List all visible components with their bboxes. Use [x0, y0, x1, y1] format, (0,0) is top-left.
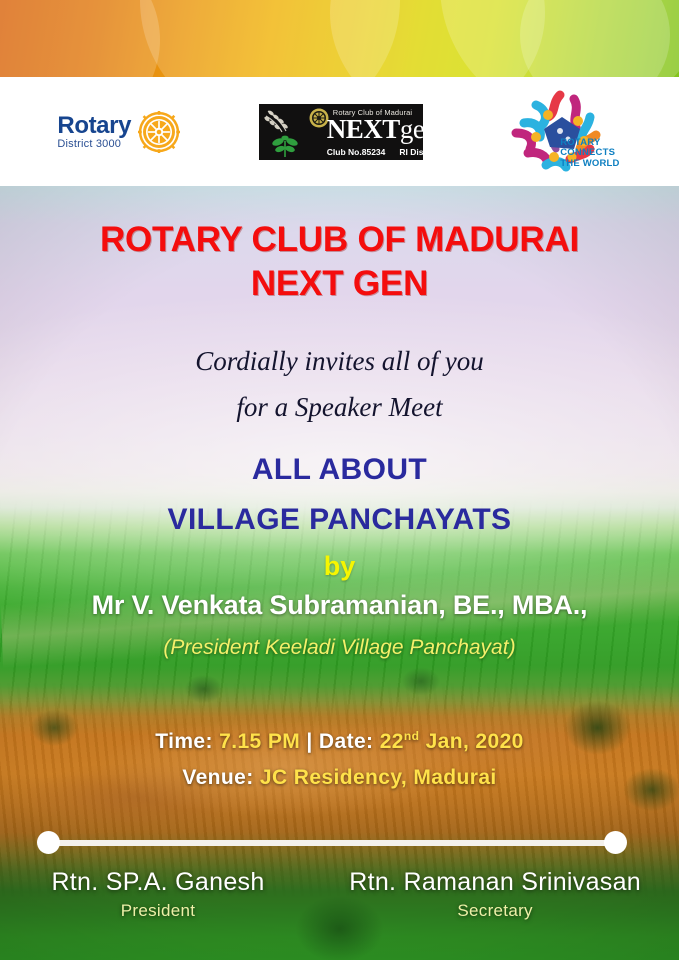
- divider-dot-right: [604, 831, 627, 854]
- signatory-name: Rtn. SP.A. Ganesh: [38, 868, 278, 897]
- poster-content: ROTARY CLUB OF MADURAI NEXT GEN Cordiall…: [0, 186, 679, 960]
- title-line-2: NEXT GEN: [0, 262, 679, 306]
- date-label: Date:: [319, 730, 374, 753]
- rotary-district-logo: Rotary District 3000: [57, 111, 180, 153]
- nextgen-district-number: RI Dist 3000: [399, 147, 447, 157]
- rotary-district-subtitle: District 3000: [57, 139, 131, 150]
- invitation-line-1: Cordially invites all of you: [0, 338, 679, 384]
- event-details: Time: 7.15 PM | Date: 22nd Jan, 2020 Ven…: [0, 718, 679, 796]
- village-landscape-background: ROTARY CLUB OF MADURAI NEXT GEN Cordiall…: [0, 186, 679, 960]
- nextgen-club-logo: Rotary Club of Madurai NEXTgen Club No.8…: [259, 104, 423, 160]
- rotary-connects-the-world-logo: ROTARY CONNECTS THE WORLD: [502, 89, 622, 175]
- rotary-district-wordmark: Rotary District 3000: [57, 114, 131, 150]
- speaker-role: (President Keeladi Village Panchayat): [0, 636, 679, 660]
- rotary-wheel-seal-icon: [309, 108, 329, 128]
- time-label: Time:: [155, 730, 213, 753]
- divider-dot-left: [37, 831, 60, 854]
- invitation-text: Cordially invites all of you for a Speak…: [0, 338, 679, 430]
- venue-value: JC Residency, Madurai: [260, 766, 497, 789]
- event-invitation-poster: Rotary District 3000: [0, 0, 679, 960]
- topic-line-1: ALL ABOUT: [0, 445, 679, 495]
- speaker-name: Mr V. Venkata Subramanian, BE., MBA.,: [0, 590, 679, 621]
- title-line-1: ROTARY CLUB OF MADURAI: [0, 218, 679, 262]
- venue-label: Venue:: [182, 766, 253, 789]
- wheat-sprout-icon: [262, 107, 308, 157]
- talk-topic: ALL ABOUT VILLAGE PANCHAYATS: [0, 445, 679, 545]
- rotary-wheel-icon: [138, 111, 180, 153]
- date-ordinal-suffix: nd: [404, 729, 419, 743]
- rotary-connects-line3: THE WORLD: [560, 159, 619, 170]
- nextgen-word-gen: gen: [400, 114, 437, 144]
- divider-rule: [48, 831, 616, 855]
- decorative-circle: [520, 0, 670, 77]
- signatory-role: Secretary: [349, 901, 641, 921]
- header-gradient-band: [0, 0, 679, 77]
- signatories: Rtn. SP.A. Ganesh President Rtn. Ramanan…: [0, 868, 679, 921]
- rotary-wordmark-text: Rotary: [57, 114, 131, 138]
- nextgen-club-number: Club No.85234: [327, 147, 386, 157]
- poster-title: ROTARY CLUB OF MADURAI NEXT GEN: [0, 218, 679, 306]
- date-month-year: Jan, 2020: [426, 730, 524, 753]
- topic-line-2: VILLAGE PANCHAYATS: [0, 495, 679, 545]
- nextgen-word-next: NEXT: [327, 114, 400, 144]
- by-label: by: [0, 551, 679, 582]
- signatory-president: Rtn. SP.A. Ganesh President: [38, 868, 278, 921]
- detail-separator: |: [306, 730, 312, 753]
- divider-bar: [48, 840, 616, 846]
- nextgen-wordmark: NEXTgen: [327, 116, 438, 143]
- signatory-name: Rtn. Ramanan Srinivasan: [349, 868, 641, 897]
- date-day: 22: [380, 730, 404, 753]
- decorative-circle: [0, 0, 160, 77]
- signatory-secretary: Rtn. Ramanan Srinivasan Secretary: [349, 868, 641, 921]
- time-date-line: Time: 7.15 PM | Date: 22nd Jan, 2020: [0, 718, 679, 760]
- time-value: 7.15 PM: [219, 730, 300, 753]
- rotary-connects-wordmark: ROTARY CONNECTS THE WORLD: [560, 138, 619, 170]
- logo-band: Rotary District 3000: [0, 77, 679, 186]
- nextgen-ids: Club No.85234RI Dist 3000: [327, 147, 448, 157]
- signatory-role: President: [38, 901, 278, 921]
- venue-line: Venue: JC Residency, Madurai: [0, 760, 679, 796]
- invitation-line-2: for a Speaker Meet: [0, 384, 679, 430]
